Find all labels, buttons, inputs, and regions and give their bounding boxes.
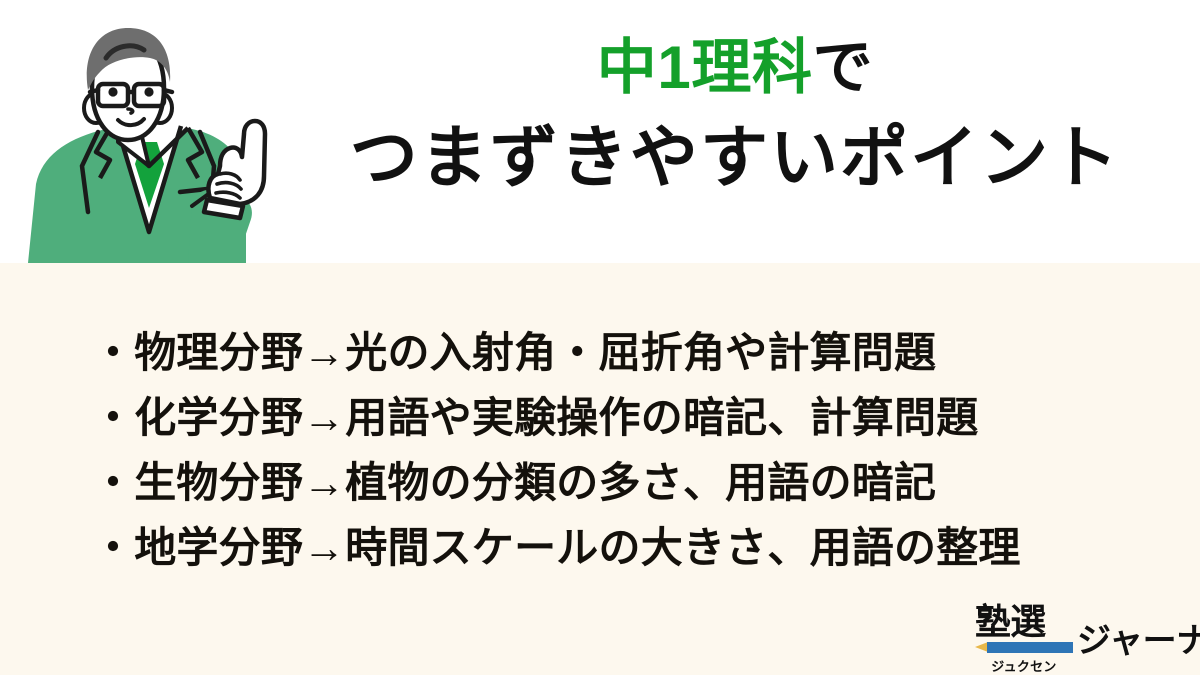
title-accent-text: 中1理科 — [597, 34, 813, 101]
list-item: ・物理分野→光の入射角・屈折角や計算問題 — [92, 320, 1152, 385]
logo-reading: ジュクセン — [975, 656, 1073, 675]
title-plain-text: で — [813, 34, 874, 101]
title-line-1: 中1理科で — [290, 38, 1180, 98]
slide-root: 中1理科で つまずきやすいポイント ・物理分野→光の入射角・屈折角や計算問題 ・… — [0, 0, 1200, 675]
logo-mark: 塾選 ジュクセン — [975, 604, 1073, 675]
logo-wordmark: ジャーナル — [1077, 613, 1200, 662]
points-list: ・物理分野→光の入射角・屈折角や計算問題 ・化学分野→用語や実験操作の暗記、計算… — [92, 320, 1152, 580]
title-line-2: つまずきやすいポイント — [290, 124, 1180, 192]
pencil-bar — [987, 642, 1073, 653]
title-block: 中1理科で つまずきやすいポイント — [290, 38, 1180, 248]
teacher-pointing-illustration — [14, 16, 284, 263]
list-item: ・地学分野→時間スケールの大きさ、用語の整理 — [92, 515, 1152, 580]
list-item: ・生物分野→植物の分類の多さ、用語の暗記 — [92, 450, 1152, 515]
logo-kanji: 塾選 — [975, 604, 1073, 640]
pencil-icon — [975, 641, 1073, 654]
brand-logo: 塾選 ジュクセン ジャーナル — [975, 604, 1190, 670]
list-item: ・化学分野→用語や実験操作の暗記、計算問題 — [92, 385, 1152, 450]
